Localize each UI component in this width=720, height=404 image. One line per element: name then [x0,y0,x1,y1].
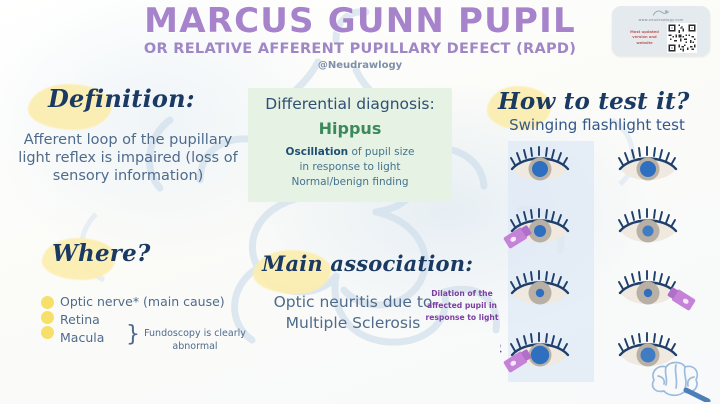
dilation-annotation-text: Dilation of the affected pupil in respon… [420,288,504,323]
differential-line-3: Normal/benign finding [248,176,452,188]
qr-badge[interactable]: www.neudrawlogy.com Most updated version… [612,6,710,56]
differential-term: Hippus [248,119,452,138]
list-item: Optic nerve* (main cause) [60,293,225,311]
differential-line-1-rest: of pupil size [348,146,414,158]
swinging-flashlight-eye-diagram [500,142,712,384]
brain-icon [642,358,716,402]
main-association-heading: Main association: [262,251,473,276]
differential-line-1: Oscillation of pupil size [248,146,452,158]
eye-row-3 [511,271,696,311]
how-to-test-heading: How to test it? [498,88,690,115]
differential-line-1-bold: Oscillation [286,146,349,158]
eye-row-2 [503,209,676,249]
flashlight-icon [667,287,696,311]
qr-note-label: Most updated version and website [626,30,664,47]
author-handle: @Neudrawlogy [0,60,720,71]
definition-heading: Definition: [48,84,195,113]
how-to-test-subtitle: Swinging flashlight test [484,116,710,135]
infographic-poster: MARCUS GUNN PUPIL OR RELATIVE AFFERENT P… [0,0,720,404]
dilation-arrow-icon [500,284,502,356]
curly-brace-icon: } [126,322,140,347]
where-bullet-markers [41,296,54,341]
eye-row-1 [511,147,676,181]
bullet-dot [41,311,54,324]
differential-line-2: in response to light [248,161,452,173]
qr-code-icon[interactable] [667,23,697,53]
definition-body: Afferent loop of the pupillary light ref… [14,131,242,185]
bullet-dot [41,296,54,309]
fundoscopy-note: Fundoscopy is clearly abnormal [140,327,250,354]
qr-url-label: www.neudrawlogy.com [638,18,683,22]
brand-logo-icon [650,9,672,18]
differential-heading: Differential diagnosis: [248,95,452,113]
bullet-dot [41,326,54,339]
where-heading: Where? [52,240,151,267]
